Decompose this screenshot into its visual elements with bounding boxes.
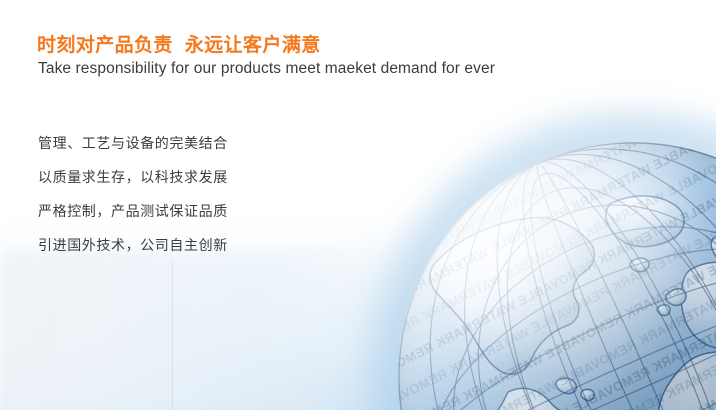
slogan-list: 管理、工艺与设备的完美结合 以质量求生存，以科技求发展 严格控制，产品测试保证品… <box>38 126 358 262</box>
headline-slogan: 时刻对产品负责永远让客户满意 <box>37 30 321 57</box>
list-item: 以质量求生存，以科技求发展 <box>38 160 358 194</box>
headline-part-2: 永远让客户满意 <box>185 35 321 56</box>
banner-text-content: 时刻对产品负责永远让客户满意 Take responsibility for o… <box>0 0 716 410</box>
list-item: 严格控制，产品测试保证品质 <box>38 194 358 228</box>
banner-canvas: REMOVABLE WATERMARK REMOVABLE WATERMARK … <box>0 0 716 410</box>
headline-part-1: 时刻对产品负责 <box>37 35 173 56</box>
list-item: 管理、工艺与设备的完美结合 <box>38 126 358 160</box>
subheadline-english: Take responsibility for our products mee… <box>38 60 495 78</box>
list-item: 引进国外技术，公司自主创新 <box>38 228 358 262</box>
